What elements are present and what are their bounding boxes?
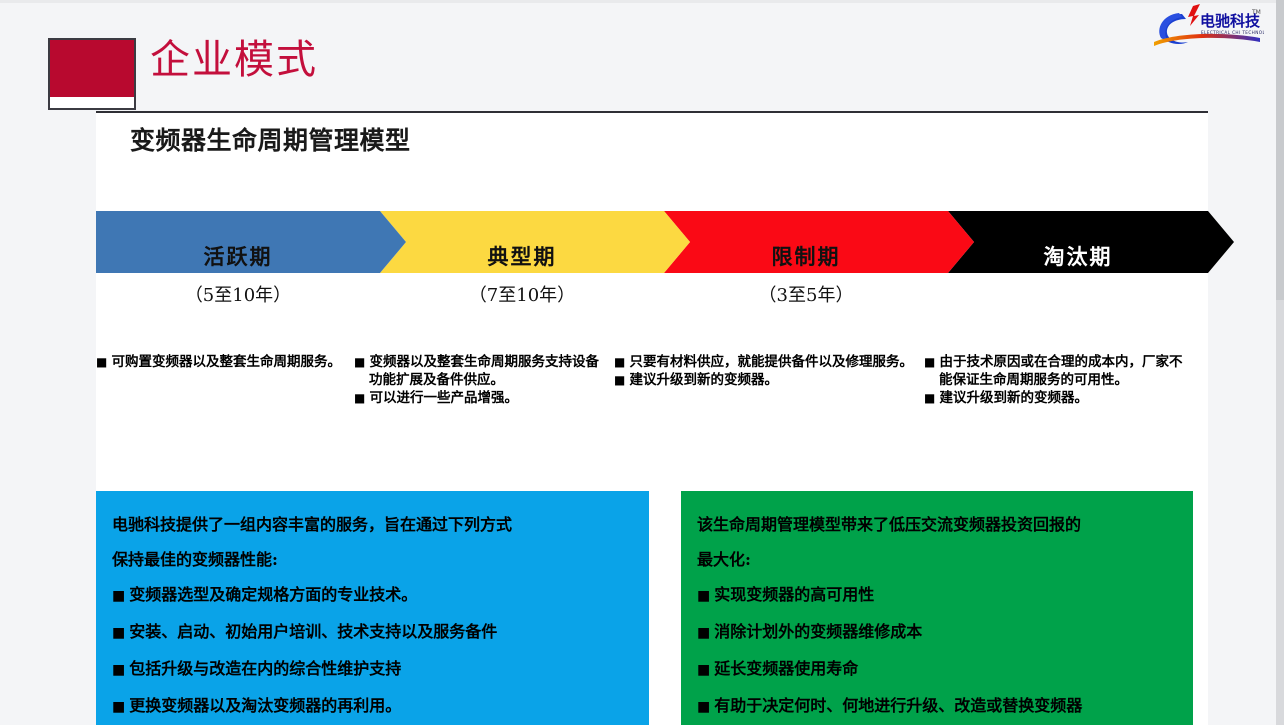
bullet-item: ■ 可以进行一些产品增强。 xyxy=(354,389,604,407)
summary-list-item: ■有助于决定何时、何地进行升级、改造或替换变频器 xyxy=(697,688,1179,725)
bullet-square-icon: ■ xyxy=(112,699,125,715)
model-heading: 变频器生命周期管理模型 xyxy=(130,121,411,157)
bullet-square-icon: ■ xyxy=(112,625,125,641)
bullet-square-icon: ■ xyxy=(697,625,710,641)
summary-list-item: ■消除计划外的变频器维修成本 xyxy=(697,614,1179,651)
slide-header: 企业模式 电驰科技 TM ELECTRICAL CHI TECHNOLOGY xyxy=(0,0,1276,113)
title-accent-fill xyxy=(50,40,134,97)
blue-heading-line-2: 保持最佳的变频器性能: xyxy=(112,542,635,577)
bullet-square-icon: ■ xyxy=(697,699,710,715)
bullet-square-icon: ■ xyxy=(614,373,630,387)
bullet-item: ■ 由于技术原因或在合理的成本内，厂家不能保证生命周期服务的可用性。 xyxy=(924,353,1188,389)
bullet-square-icon: ■ xyxy=(924,391,940,405)
lifecycle-stage-2: 典型期 xyxy=(380,211,690,273)
bullet-item: ■ 建议升级到新的变频器。 xyxy=(614,371,914,389)
title-accent-marker xyxy=(48,38,136,110)
bullet-square-icon: ■ xyxy=(112,588,125,604)
bullet-square-icon: ■ xyxy=(354,391,370,405)
stage-bullet-column-1: ■ 可购置变频器以及整套生命周期服务。 xyxy=(96,353,344,371)
bullet-square-icon: ■ xyxy=(354,355,370,369)
svg-text:TM: TM xyxy=(1251,9,1261,16)
services-summary-box-blue: 电驰科技提供了一组内容丰富的服务，旨在通过下列方式 保持最佳的变频器性能: ■变… xyxy=(96,491,649,725)
page-title: 企业模式 xyxy=(150,40,318,80)
stage-range-1: （5至10年） xyxy=(96,281,380,307)
vertical-scrollbar-thumb[interactable] xyxy=(1276,0,1284,300)
header-top-divider xyxy=(0,0,1276,3)
blue-heading-line-1: 电驰科技提供了一组内容丰富的服务，旨在通过下列方式 xyxy=(112,507,635,542)
bullet-item: ■ 可购置变频器以及整套生命周期服务。 xyxy=(96,353,344,371)
benefits-summary-box-green: 该生命周期管理模型带来了低压交流变频器投资回报的 最大化: ■实现变频器的高可用… xyxy=(681,491,1193,725)
summary-list-item: ■安装、启动、初始用户培训、技术支持以及服务备件 xyxy=(112,614,635,651)
bullet-square-icon: ■ xyxy=(112,662,125,678)
lifecycle-stage-4: 淘汰期 xyxy=(948,211,1234,273)
summary-list-item: ■更换变频器以及淘汰变频器的再利用。 xyxy=(112,688,635,725)
summary-list-item: ■变频器选型及确定规格方面的专业技术。 xyxy=(112,577,635,614)
stage-label-3: 限制期 xyxy=(664,241,974,271)
bullet-square-icon: ■ xyxy=(96,355,112,369)
summary-list-item: ■延长变频器使用寿命 xyxy=(697,651,1179,688)
slide-root: 企业模式 电驰科技 TM ELECTRICAL CHI TECHNOLOGY xyxy=(0,0,1284,725)
bullet-square-icon: ■ xyxy=(924,355,940,369)
bullet-square-icon: ■ xyxy=(697,662,710,678)
bullet-square-icon: ■ xyxy=(697,588,710,604)
lifecycle-stage-3: 限制期 xyxy=(664,211,974,273)
bullet-item: ■ 变频器以及整套生命周期服务支持设备功能扩展及备件供应。 xyxy=(354,353,604,389)
stage-range-2: （7至10年） xyxy=(380,281,664,307)
blue-items-list: ■变频器选型及确定规格方面的专业技术。■安装、启动、初始用户培训、技术支持以及服… xyxy=(112,577,635,725)
lifecycle-stage-1: 活跃期 xyxy=(96,211,406,273)
green-heading-line-2: 最大化: xyxy=(697,542,1179,577)
green-heading-line-1: 该生命周期管理模型带来了低压交流变频器投资回报的 xyxy=(697,507,1179,542)
lifecycle-stage-band: 变频器生命周期阶段: 活跃期典型期限制期淘汰期 xyxy=(96,211,1208,273)
slide-content-panel: 变频器生命周期管理模型 变频器生命周期阶段: 活跃期典型期限制期淘汰期 ■ 可购… xyxy=(96,113,1208,725)
bullet-item: ■ 建议升级到新的变频器。 xyxy=(924,389,1188,407)
stage-range-3: （3至5年） xyxy=(664,281,948,307)
green-items-list: ■实现变频器的高可用性■消除计划外的变频器维修成本■延长变频器使用寿命■有助于决… xyxy=(697,577,1179,725)
bullet-item: ■ 只要有材料供应，就能提供备件以及修理服务。 xyxy=(614,353,914,371)
dianchi-technology-logo: 电驰科技 TM ELECTRICAL CHI TECHNOLOGY xyxy=(1148,2,1264,52)
summary-list-item: ■包括升级与改造在内的综合性维护支持 xyxy=(112,651,635,688)
stage-bullet-column-2: ■ 变频器以及整套生命周期服务支持设备功能扩展及备件供应。■ 可以进行一些产品增… xyxy=(354,353,604,407)
stage-bullet-column-4: ■ 由于技术原因或在合理的成本内，厂家不能保证生命周期服务的可用性。■ 建议升级… xyxy=(924,353,1188,407)
stage-bullet-columns: ■ 可购置变频器以及整套生命周期服务。■ 变频器以及整套生命周期服务支持设备功能… xyxy=(96,353,1208,483)
stage-bullet-column-3: ■ 只要有材料供应，就能提供备件以及修理服务。■ 建议升级到新的变频器。 xyxy=(614,353,914,389)
bullet-square-icon: ■ xyxy=(614,355,630,369)
stage-label-4: 淘汰期 xyxy=(948,241,1234,271)
summary-list-item: ■实现变频器的高可用性 xyxy=(697,577,1179,614)
stage-label-2: 典型期 xyxy=(380,241,690,271)
stage-label-1: 活跃期 xyxy=(96,241,406,271)
vertical-scrollbar-track[interactable] xyxy=(1276,0,1284,725)
